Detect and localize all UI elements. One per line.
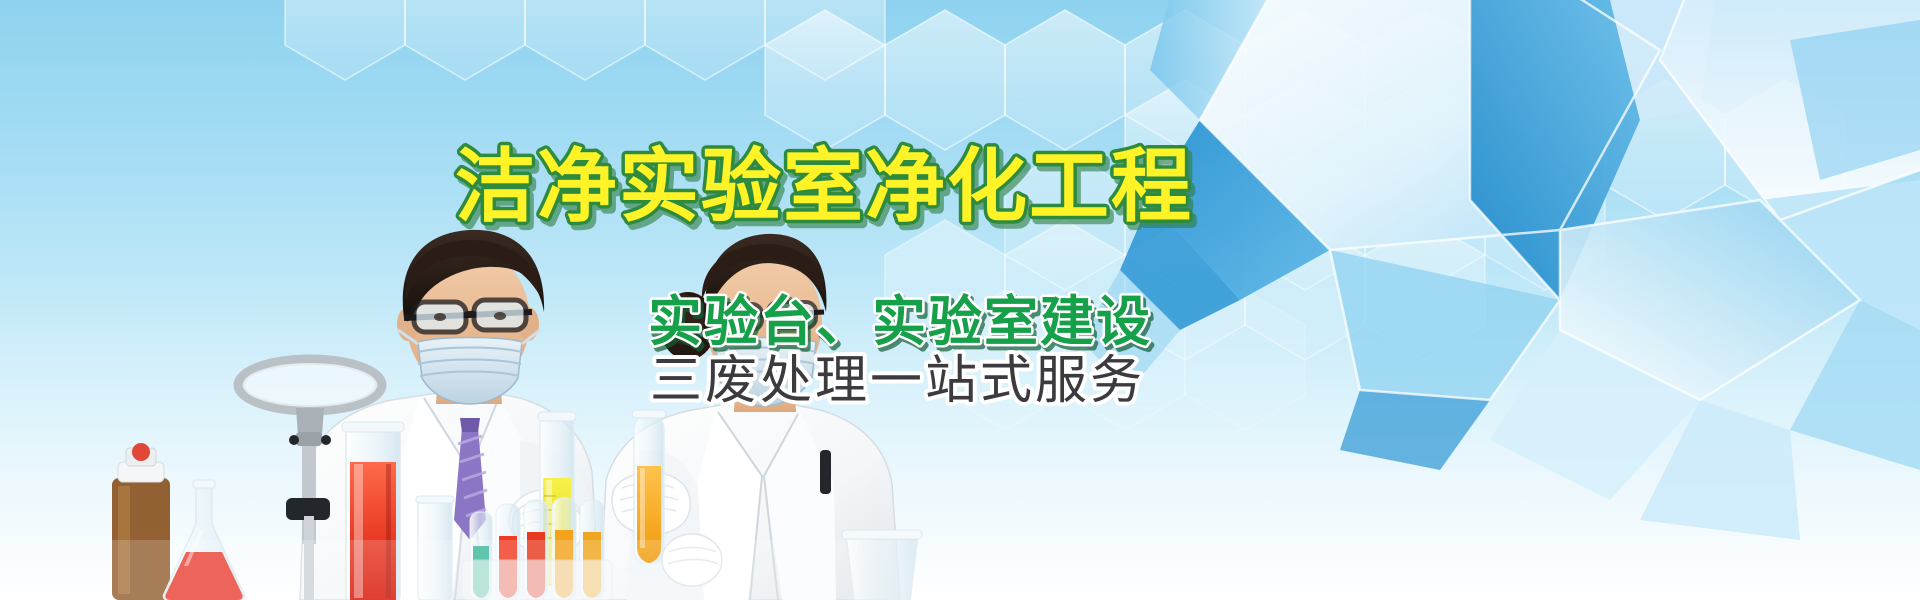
surgical-mask: [698, 332, 816, 406]
pocket-pen: [820, 450, 831, 494]
promo-banner: 洁净实验室净化工程 实验台、实验室建设 三废处理一站式服务: [0, 0, 1920, 600]
surgical-mask: [398, 330, 540, 404]
lab-researchers-photo: [0, 0, 1920, 600]
